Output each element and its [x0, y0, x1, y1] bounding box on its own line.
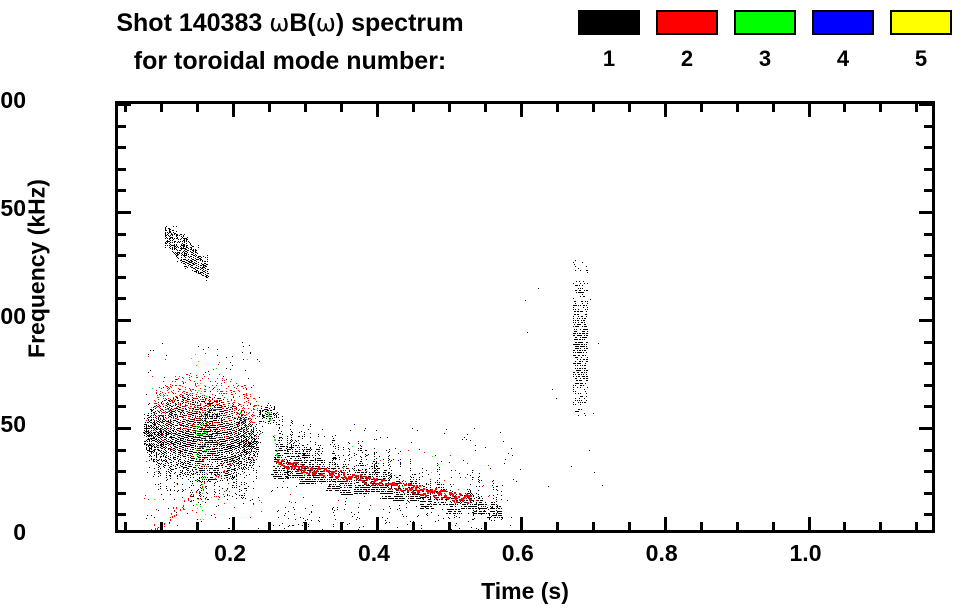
- axis-tick: [118, 449, 126, 452]
- axis-tick: [118, 125, 126, 128]
- x-axis-label: Time (s): [115, 578, 935, 605]
- axis-tick: [118, 470, 126, 473]
- axis-tick: [879, 522, 882, 530]
- axis-tick: [919, 103, 932, 106]
- axis-tick: [808, 517, 811, 530]
- axis-tick: [118, 168, 126, 171]
- axis-tick: [484, 522, 487, 530]
- legend-label-5: 5: [890, 47, 952, 71]
- axis-tick: [196, 522, 199, 530]
- chart-title-line-2: for toroidal mode number:: [0, 42, 580, 80]
- axis-tick: [448, 522, 451, 530]
- axis-tick: [924, 233, 932, 236]
- legend-item-5[interactable]: 5: [890, 10, 952, 71]
- axis-tick: [124, 104, 127, 112]
- axis-tick: [919, 319, 932, 322]
- legend-swatch-5: [890, 10, 952, 35]
- axis-tick: [124, 522, 127, 530]
- legend-swatch-3: [734, 10, 796, 35]
- axis-tick: [700, 522, 703, 530]
- axis-tick: [340, 104, 343, 112]
- legend-item-3[interactable]: 3: [734, 10, 796, 71]
- legend-item-4[interactable]: 4: [812, 10, 874, 71]
- axis-tick: [118, 362, 126, 365]
- spectrogram-data: [118, 104, 935, 533]
- legend-label-1: 1: [578, 47, 640, 71]
- axis-tick: [118, 146, 126, 149]
- axis-tick: [118, 319, 131, 322]
- axis-tick: [924, 254, 932, 257]
- axis-tick: [919, 427, 932, 430]
- x-tick-label: 0.8: [617, 540, 707, 566]
- axis-tick: [268, 522, 271, 530]
- axis-tick: [118, 492, 126, 495]
- axis-tick: [340, 522, 343, 530]
- axis-tick: [118, 276, 126, 279]
- legend-label-3: 3: [734, 47, 796, 71]
- axis-tick: [664, 517, 667, 530]
- axis-tick: [118, 405, 126, 408]
- legend-label-2: 2: [656, 47, 718, 71]
- axis-tick: [879, 104, 882, 112]
- axis-tick: [118, 297, 126, 300]
- axis-tick: [924, 146, 932, 149]
- legend-item-1[interactable]: 1: [578, 10, 640, 71]
- axis-tick: [160, 522, 163, 530]
- spectrogram-canvas-host: [118, 104, 935, 533]
- axis-tick: [664, 104, 667, 117]
- axis-tick: [118, 233, 126, 236]
- axis-tick: [628, 104, 631, 112]
- axis-tick: [268, 104, 271, 112]
- axis-tick: [160, 104, 163, 112]
- axis-tick: [376, 104, 379, 117]
- axis-tick: [412, 104, 415, 112]
- axis-tick: [924, 449, 932, 452]
- x-tick-label: 1.0: [761, 540, 851, 566]
- axis-tick: [924, 470, 932, 473]
- axis-tick: [118, 513, 126, 516]
- axis-tick: [915, 522, 918, 530]
- legend-swatch-4: [812, 10, 874, 35]
- plot-area[interactable]: [115, 101, 935, 533]
- axis-tick: [556, 104, 559, 112]
- y-tick-label: 200: [0, 89, 26, 112]
- axis-tick: [924, 341, 932, 344]
- axis-tick: [484, 104, 487, 112]
- y-tick-label: 0: [0, 521, 26, 544]
- axis-tick: [592, 522, 595, 530]
- omega-symbol-2: ω: [316, 9, 336, 37]
- axis-tick: [448, 104, 451, 112]
- axis-tick: [924, 189, 932, 192]
- legend-swatch-1: [578, 10, 640, 35]
- axis-tick: [924, 362, 932, 365]
- omega-symbol-1: ω: [269, 9, 289, 37]
- axis-tick: [772, 522, 775, 530]
- chart-title-line-1-mid: B(: [289, 9, 315, 37]
- axis-tick: [232, 104, 235, 117]
- axis-tick: [915, 104, 918, 112]
- axis-tick: [772, 104, 775, 112]
- axis-tick: [118, 189, 126, 192]
- x-tick-label: 0.4: [329, 540, 419, 566]
- axis-tick: [919, 211, 932, 214]
- axis-tick: [843, 104, 846, 112]
- legend-swatch-2: [656, 10, 718, 35]
- chart-title-line-1: Shot 140383 ωB(ω) spectrum: [0, 4, 580, 42]
- axis-tick: [118, 254, 126, 257]
- axis-tick: [232, 517, 235, 530]
- axis-tick: [924, 492, 932, 495]
- axis-tick: [376, 517, 379, 530]
- axis-tick: [808, 104, 811, 117]
- axis-tick: [520, 517, 523, 530]
- x-tick-label: 0.6: [473, 540, 563, 566]
- axis-tick: [118, 384, 126, 387]
- chart-title: Shot 140383 ωB(ω) spectrum for toroidal …: [0, 4, 580, 80]
- legend-item-2[interactable]: 2: [656, 10, 718, 71]
- axis-tick: [736, 104, 739, 112]
- axis-tick: [304, 104, 307, 112]
- legend: 1 2 3 4 5: [578, 10, 956, 90]
- axis-tick: [924, 405, 932, 408]
- axis-tick: [924, 125, 932, 128]
- y-tick-label: 100: [0, 305, 26, 328]
- x-tick-label: 0.2: [185, 540, 275, 566]
- axis-tick: [924, 513, 932, 516]
- axis-tick: [412, 522, 415, 530]
- axis-tick: [924, 168, 932, 171]
- y-tick-label: 50: [0, 413, 26, 436]
- axis-tick: [304, 522, 307, 530]
- axis-tick: [924, 384, 932, 387]
- y-tick-label: 150: [0, 197, 26, 220]
- axis-tick: [924, 276, 932, 279]
- axis-tick: [118, 427, 131, 430]
- chart-title-line-1-suffix: ) spectrum: [336, 9, 464, 37]
- axis-tick: [592, 104, 595, 112]
- axis-tick: [118, 211, 131, 214]
- axis-tick: [196, 104, 199, 112]
- axis-tick: [118, 341, 126, 344]
- axis-tick: [843, 522, 846, 530]
- axis-tick: [924, 297, 932, 300]
- axis-tick: [520, 104, 523, 117]
- axis-tick: [628, 522, 631, 530]
- y-axis-label: Frequency (kHz): [24, 139, 51, 399]
- chart-title-line-1-prefix: Shot 140383: [116, 9, 269, 37]
- legend-label-4: 4: [812, 47, 874, 71]
- spectrogram-figure: Shot 140383 ωB(ω) spectrum for toroidal …: [0, 0, 963, 615]
- axis-tick: [700, 104, 703, 112]
- axis-tick: [736, 522, 739, 530]
- axis-tick: [556, 522, 559, 530]
